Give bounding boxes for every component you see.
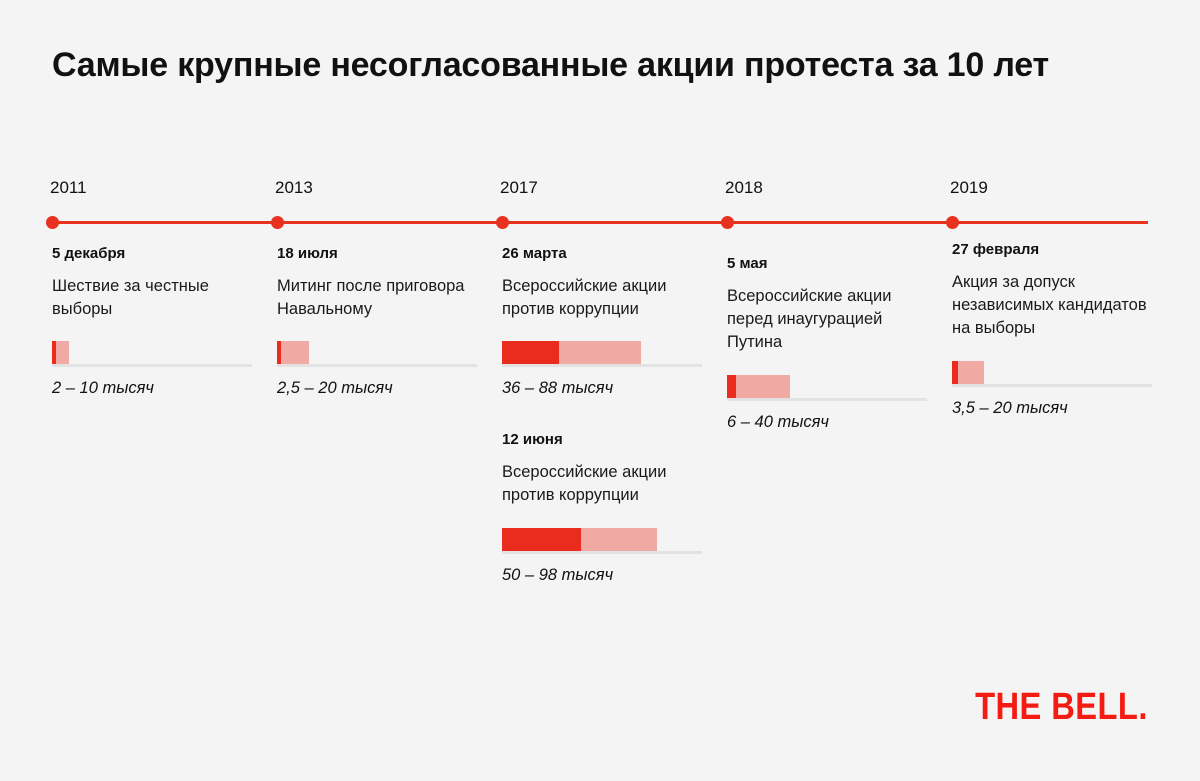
event-description: Митинг после приговора Навальному [277,275,482,322]
event-description: Всероссийские акции против коррупции [502,461,707,508]
bar-track [952,384,1152,387]
event-value-label: 3,5 – 20 тысяч [952,399,1157,418]
event-item: 18 июляМитинг после приговора Навальному… [277,244,482,398]
bar-segment-min [502,341,559,364]
bar-segment-max [581,528,657,551]
event-column-2018: 5 маяВсероссийские акции перед инаугурац… [727,254,932,432]
timeline-year-dot [271,216,284,229]
timeline-year-dot [46,216,59,229]
bar-segment-min [502,528,581,551]
bar-segment-max [281,341,309,364]
event-date: 26 марта [502,244,707,264]
timeline-year-label: 2011 [50,178,87,198]
timeline-year-dot [721,216,734,229]
event-description: Всероссийские акции против коррупции [502,275,707,322]
event-range-bar [727,375,932,401]
timeline-year-label: 2018 [725,178,763,198]
timeline-year-label: 2013 [275,178,313,198]
event-description: Всероссийские акции перед инаугурацией П… [727,285,932,355]
event-range-bar [502,341,707,367]
bar-track [502,364,702,367]
event-column-2013: 18 июляМитинг после приговора Навальному… [277,244,482,398]
event-date: 5 декабря [52,244,257,264]
bar-segment-min [727,375,736,398]
event-date: 12 июня [502,430,707,450]
event-date: 18 июля [277,244,482,264]
page-title: Самые крупные несогласованные акции прот… [52,44,1142,88]
timeline-year-dot [496,216,509,229]
bar-segment-max [559,341,641,364]
infographic-root: Самые крупные несогласованные акции прот… [0,0,1200,781]
event-value-label: 2 – 10 тысяч [52,379,257,398]
bar-stack [952,361,984,384]
event-value-label: 6 – 40 тысяч [727,413,932,432]
bar-segment-max [736,375,790,398]
event-column-2011: 5 декабряШествие за честные выборы2 – 10… [52,244,257,398]
event-range-bar [952,361,1157,387]
event-range-bar [52,341,257,367]
bar-stack [502,341,641,364]
the-bell-logo: THE BELL. [975,686,1148,729]
event-range-bar [277,341,482,367]
bar-stack [277,341,309,364]
bar-segment-max [56,341,69,364]
bar-track [277,364,477,367]
event-value-label: 36 – 88 тысяч [502,379,707,398]
bar-stack [727,375,790,398]
event-item: 5 маяВсероссийские акции перед инаугурац… [727,254,932,432]
event-date: 5 мая [727,254,932,274]
timeline-year-label: 2017 [500,178,538,198]
bar-track [502,551,702,554]
bar-stack [502,528,657,551]
timeline-year-label: 2019 [950,178,988,198]
event-value-label: 50 – 98 тысяч [502,566,707,585]
event-date: 27 февраля [952,240,1157,260]
timeline-axis-line [52,221,1148,224]
event-range-bar [502,528,707,554]
event-column-2019: 27 февраляАкция за допуск независимых ка… [952,240,1157,418]
bar-segment-max [958,361,984,384]
bar-stack [52,341,69,364]
event-column-2017: 26 мартаВсероссийские акции против корру… [502,244,707,585]
event-item: 5 декабряШествие за честные выборы2 – 10… [52,244,257,398]
event-description: Шествие за честные выборы [52,275,257,322]
bar-track [727,398,927,401]
event-item: 27 февраляАкция за допуск независимых ка… [952,240,1157,418]
timeline-year-dot [946,216,959,229]
event-description: Акция за допуск независимых кандидатов н… [952,271,1157,341]
event-item: 12 июняВсероссийские акции против корруп… [502,430,707,584]
timeline: 20112013201720182019 [52,178,1148,230]
event-item: 26 мартаВсероссийские акции против корру… [502,244,707,398]
bar-track [52,364,252,367]
event-value-label: 2,5 – 20 тысяч [277,379,482,398]
